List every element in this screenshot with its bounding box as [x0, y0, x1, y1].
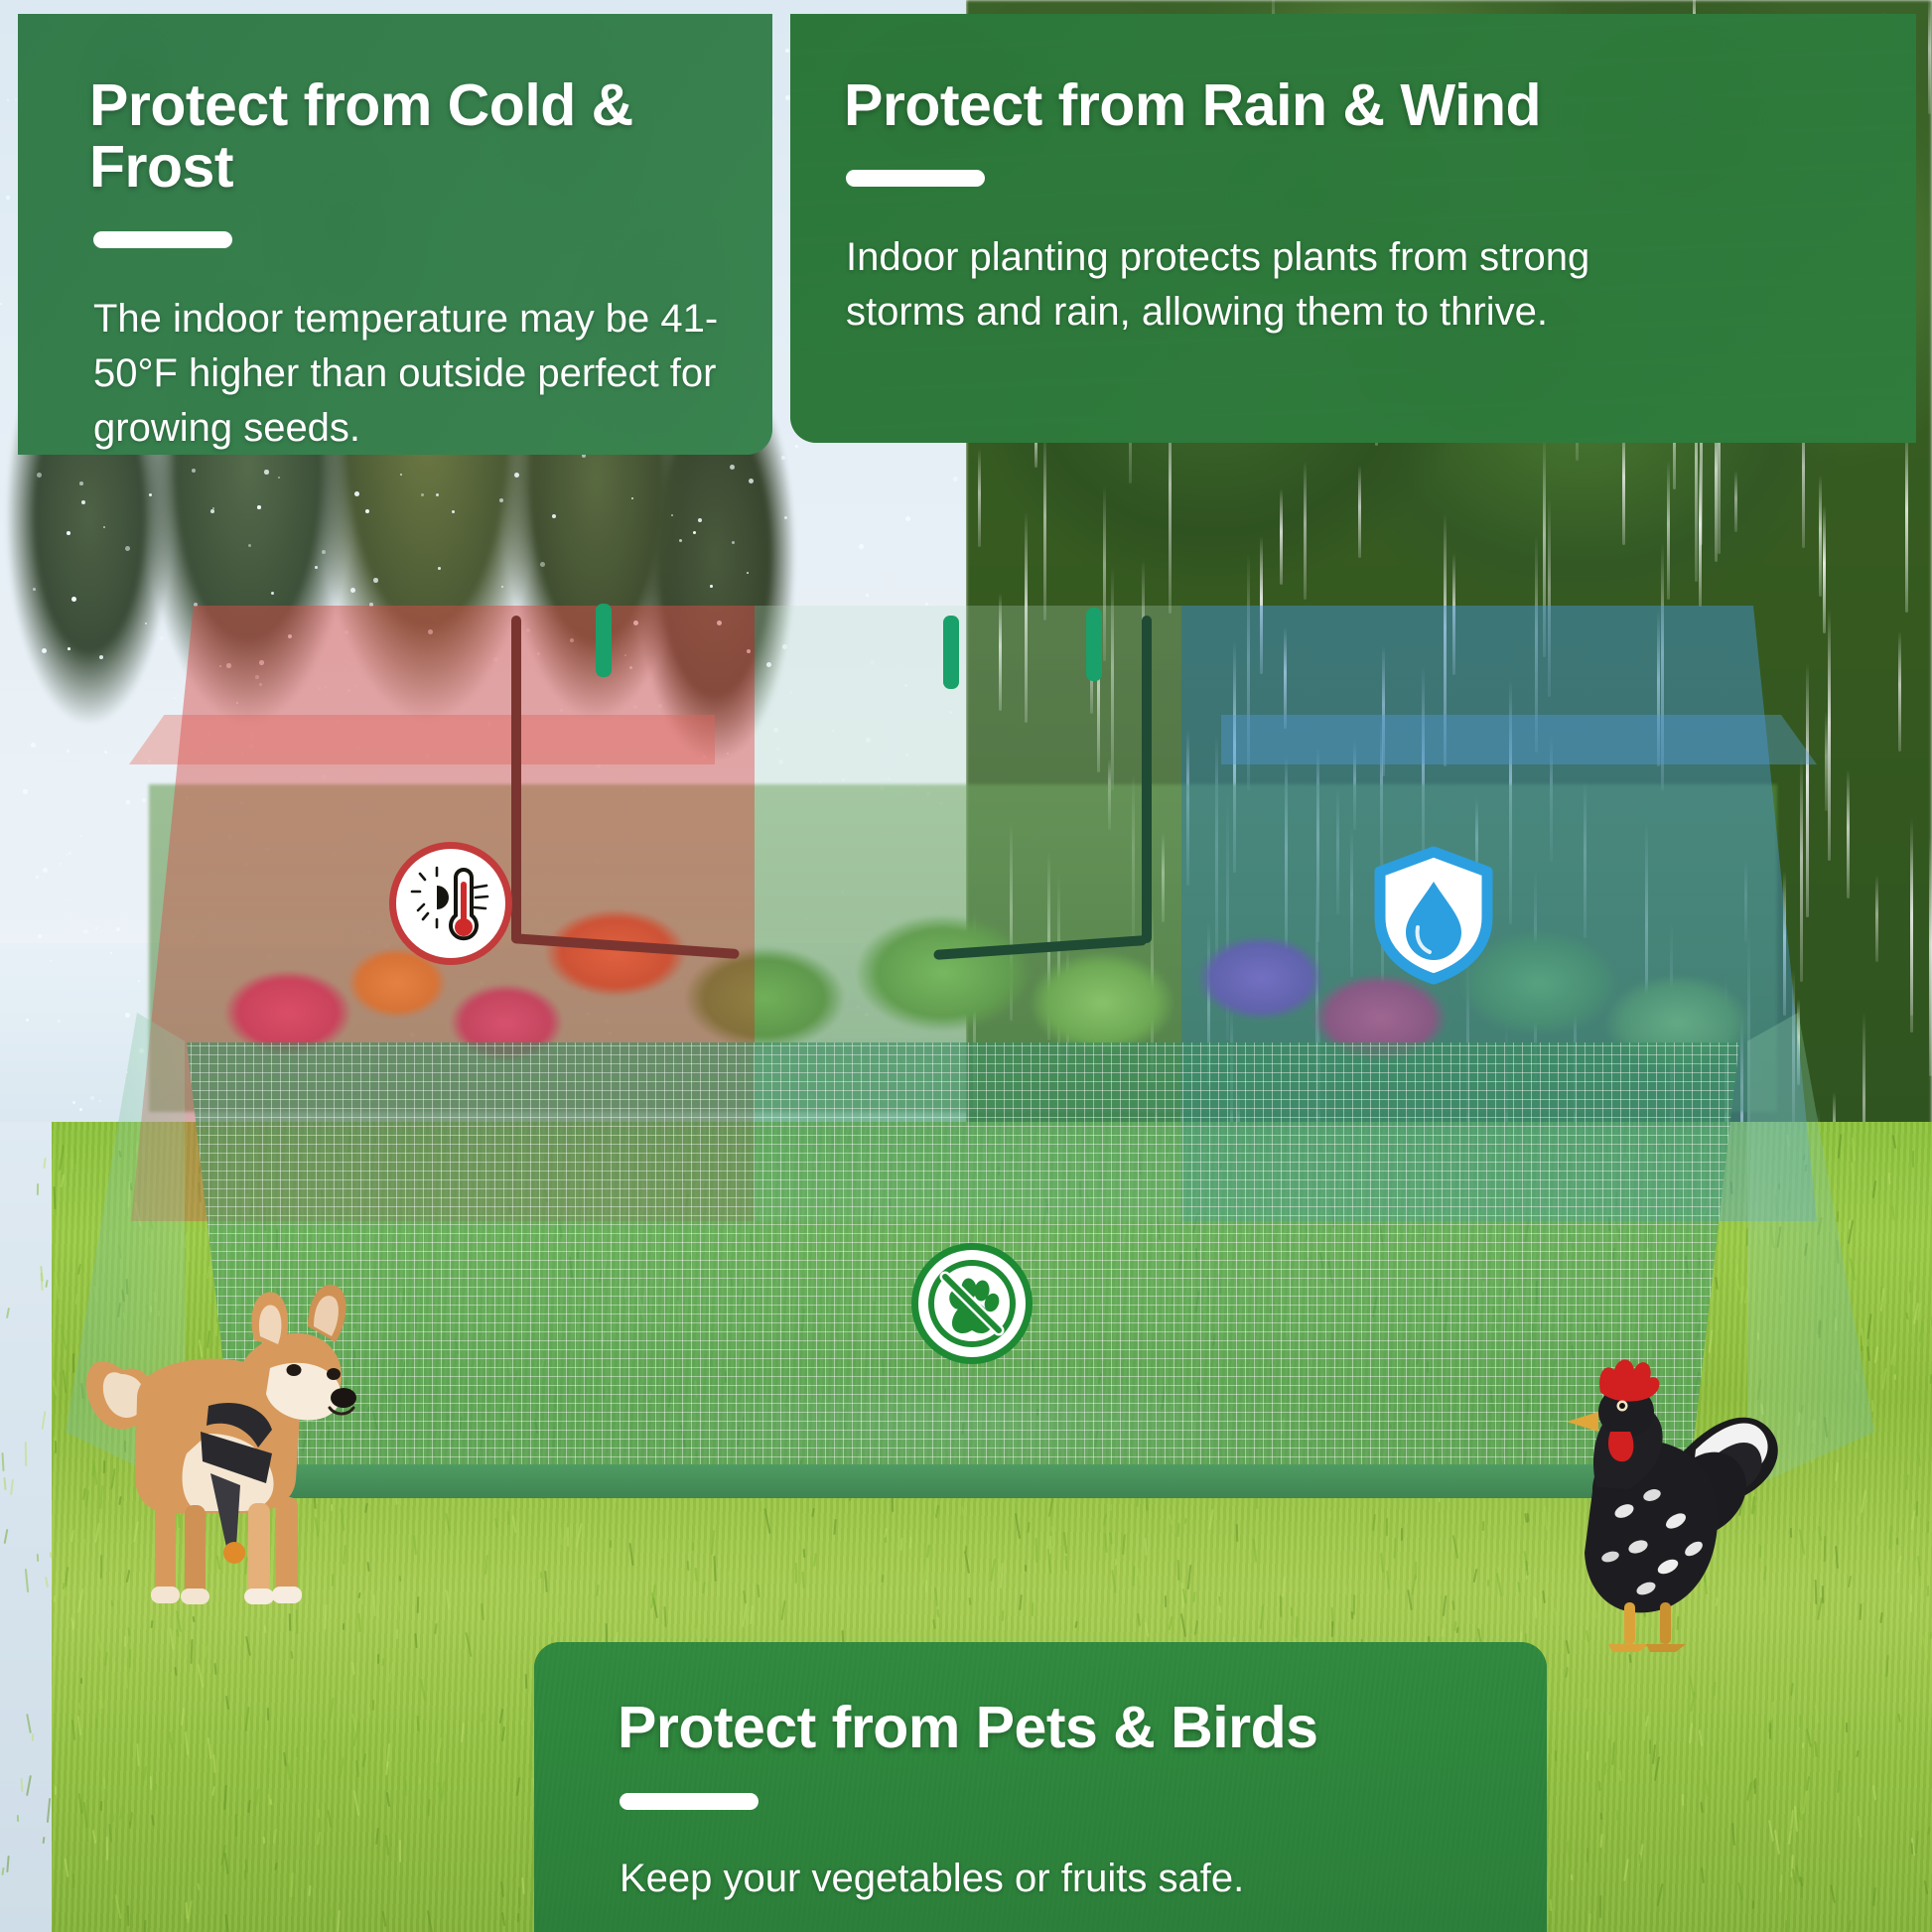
zipper-rod-right	[1142, 616, 1152, 943]
card-body-cold: The indoor temperature may be 41-50°F hi…	[93, 292, 729, 455]
feature-card-pets: Protect from Pets & Birds Keep your vege…	[534, 1642, 1547, 1932]
snow-edge	[0, 1122, 52, 1932]
shield-water-drop-icon	[1370, 846, 1497, 985]
zipper-pull-right[interactable]	[1086, 608, 1102, 681]
waterproof-badge	[1370, 846, 1497, 985]
feature-card-cold: Protect from Cold & Frost The indoor tem…	[18, 14, 772, 455]
product-feature-infographic: Protect from Cold & Frost The indoor tem…	[0, 0, 1932, 1932]
temperature-badge	[389, 842, 512, 965]
zipper-rod-left	[511, 616, 521, 943]
card-title-cold: Protect from Cold & Frost	[89, 75, 772, 199]
rooster	[1501, 1346, 1789, 1654]
card-rule-pets	[620, 1793, 759, 1810]
card-body-rain: Indoor planting protects plants from str…	[846, 230, 1640, 340]
card-body-pets: Keep your vegetables or fruits safe.	[620, 1852, 1547, 1906]
zipper-pull-mid[interactable]	[943, 616, 959, 689]
card-rule-rain	[846, 170, 985, 187]
no-pets-paw-icon	[924, 1256, 1020, 1351]
card-title-pets: Protect from Pets & Birds	[618, 1698, 1547, 1759]
card-title-rain: Protect from Rain & Wind	[844, 75, 1916, 137]
shiba-inu-dog	[60, 1249, 387, 1606]
card-rule-cold	[93, 231, 232, 248]
bottom-hem	[238, 1464, 1688, 1498]
no-pets-badge	[911, 1243, 1033, 1364]
zipper-pull-left[interactable]	[596, 604, 612, 677]
feature-card-rain: Protect from Rain & Wind Indoor planting…	[790, 14, 1916, 443]
sun-thermometer-icon	[407, 860, 494, 947]
